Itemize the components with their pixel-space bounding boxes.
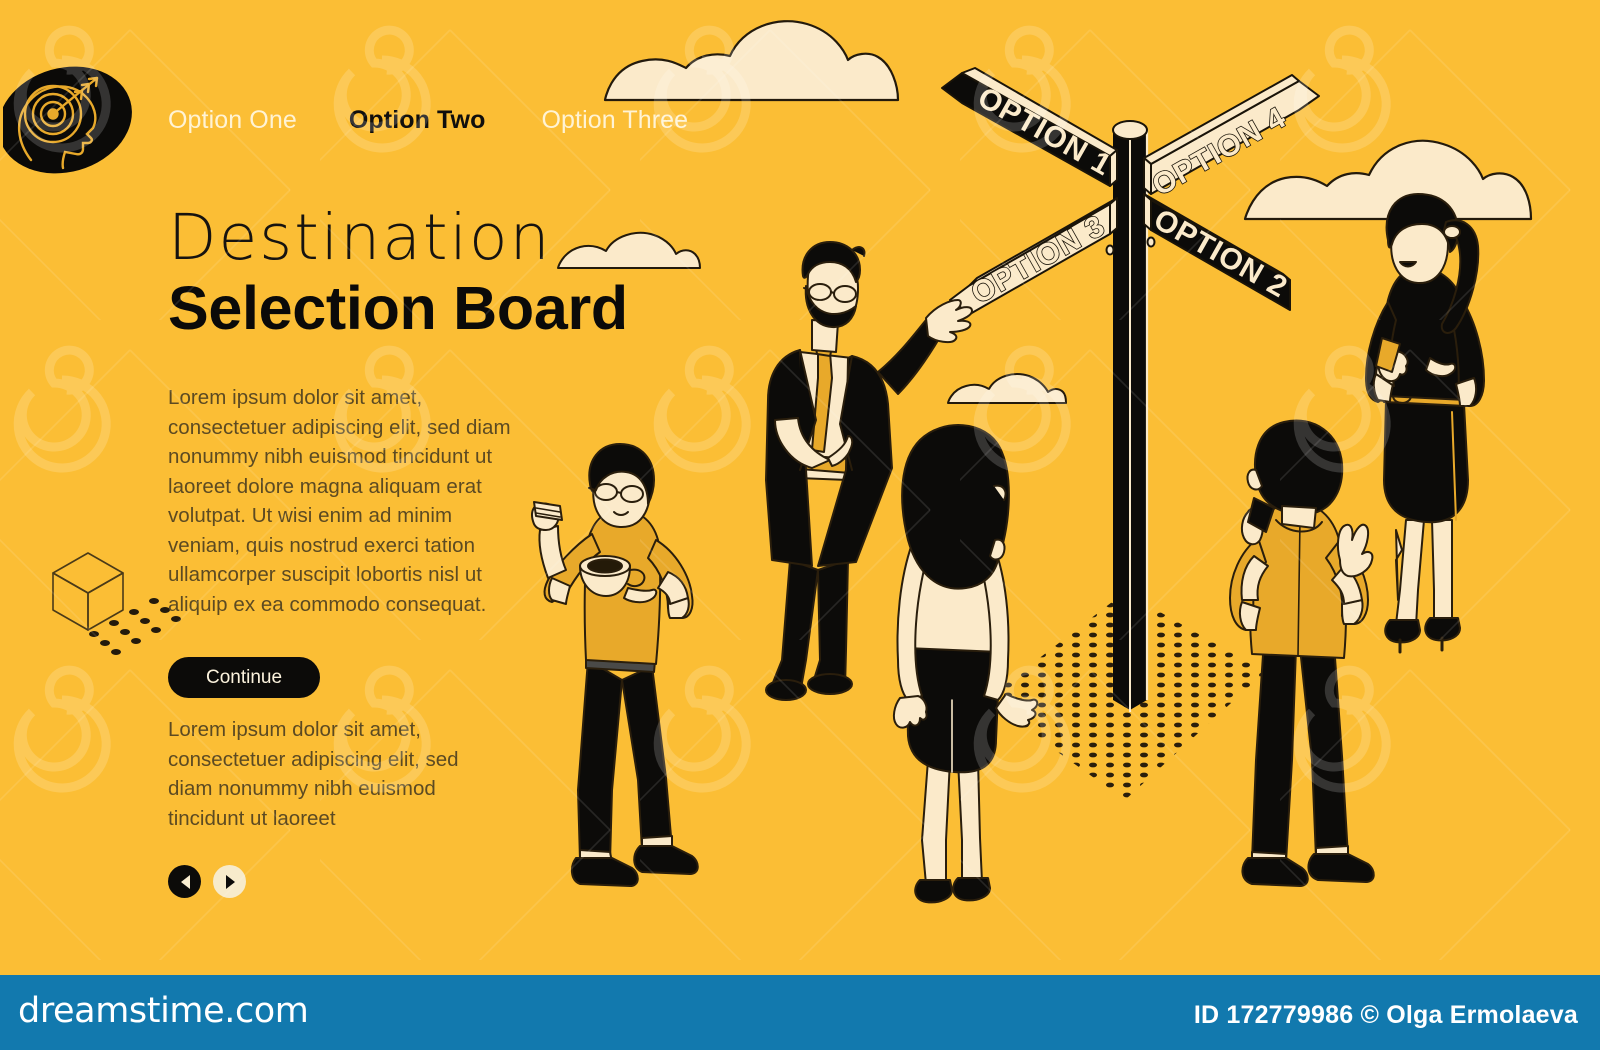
brand-logo[interactable] [3, 62, 133, 180]
signpost-sign-option-4[interactable]: OPTION 4 [1144, 75, 1319, 203]
signpost-sign-option-3[interactable]: OPTION 3 [950, 198, 1117, 314]
logo-blob-shape [3, 62, 133, 180]
page-title-line1: Destination [168, 205, 728, 271]
signpost-sign-option-1[interactable]: OPTION 1 [942, 68, 1117, 186]
main-navigation: Option One Option Two Option Three [168, 106, 688, 135]
continue-button[interactable]: Continue [168, 657, 320, 698]
figure-woman-with-smartphone [1366, 194, 1484, 652]
signpost-sign-option-2[interactable]: OPTION 2 [1144, 194, 1293, 310]
carousel-controls [168, 865, 728, 898]
dreamstime-wordmark: dreamstime.com [18, 991, 309, 1031]
sign-label-option-3: OPTION 3 [966, 209, 1111, 311]
hero-paragraph-secondary: Lorem ipsum dolor sit amet, consectetuer… [168, 715, 508, 833]
page-root: Option One Option Two Option Three Desti… [0, 0, 1600, 1050]
hero-paragraph-primary: Lorem ipsum dolor sit amet, consectetuer… [168, 383, 513, 619]
nav-item-option-one[interactable]: Option One [168, 106, 297, 135]
dreamstime-footer: dreamstime.com ID 172779986 © Olga Ermol… [0, 975, 1600, 1050]
signpost-pole [1113, 121, 1147, 712]
arrow-right-icon [223, 874, 237, 890]
nav-item-option-three[interactable]: Option Three [541, 106, 688, 135]
carousel-prev-button[interactable] [168, 865, 201, 898]
image-credit: ID 172779986 © Olga Ermolaeva [1194, 1001, 1578, 1030]
page-title-line2: Selection Board [168, 273, 728, 345]
nav-item-option-two[interactable]: Option Two [349, 106, 486, 135]
arrow-left-icon [178, 874, 192, 890]
hero-section: Destination Selection Board Lorem ipsum … [168, 205, 728, 898]
sign-label-option-2: OPTION 2 [1148, 203, 1293, 305]
figure-man-on-phone [1230, 421, 1374, 886]
sign-label-option-1: OPTION 1 [972, 81, 1117, 183]
figure-woman-back-view [894, 425, 1037, 902]
carousel-next-button[interactable] [213, 865, 246, 898]
